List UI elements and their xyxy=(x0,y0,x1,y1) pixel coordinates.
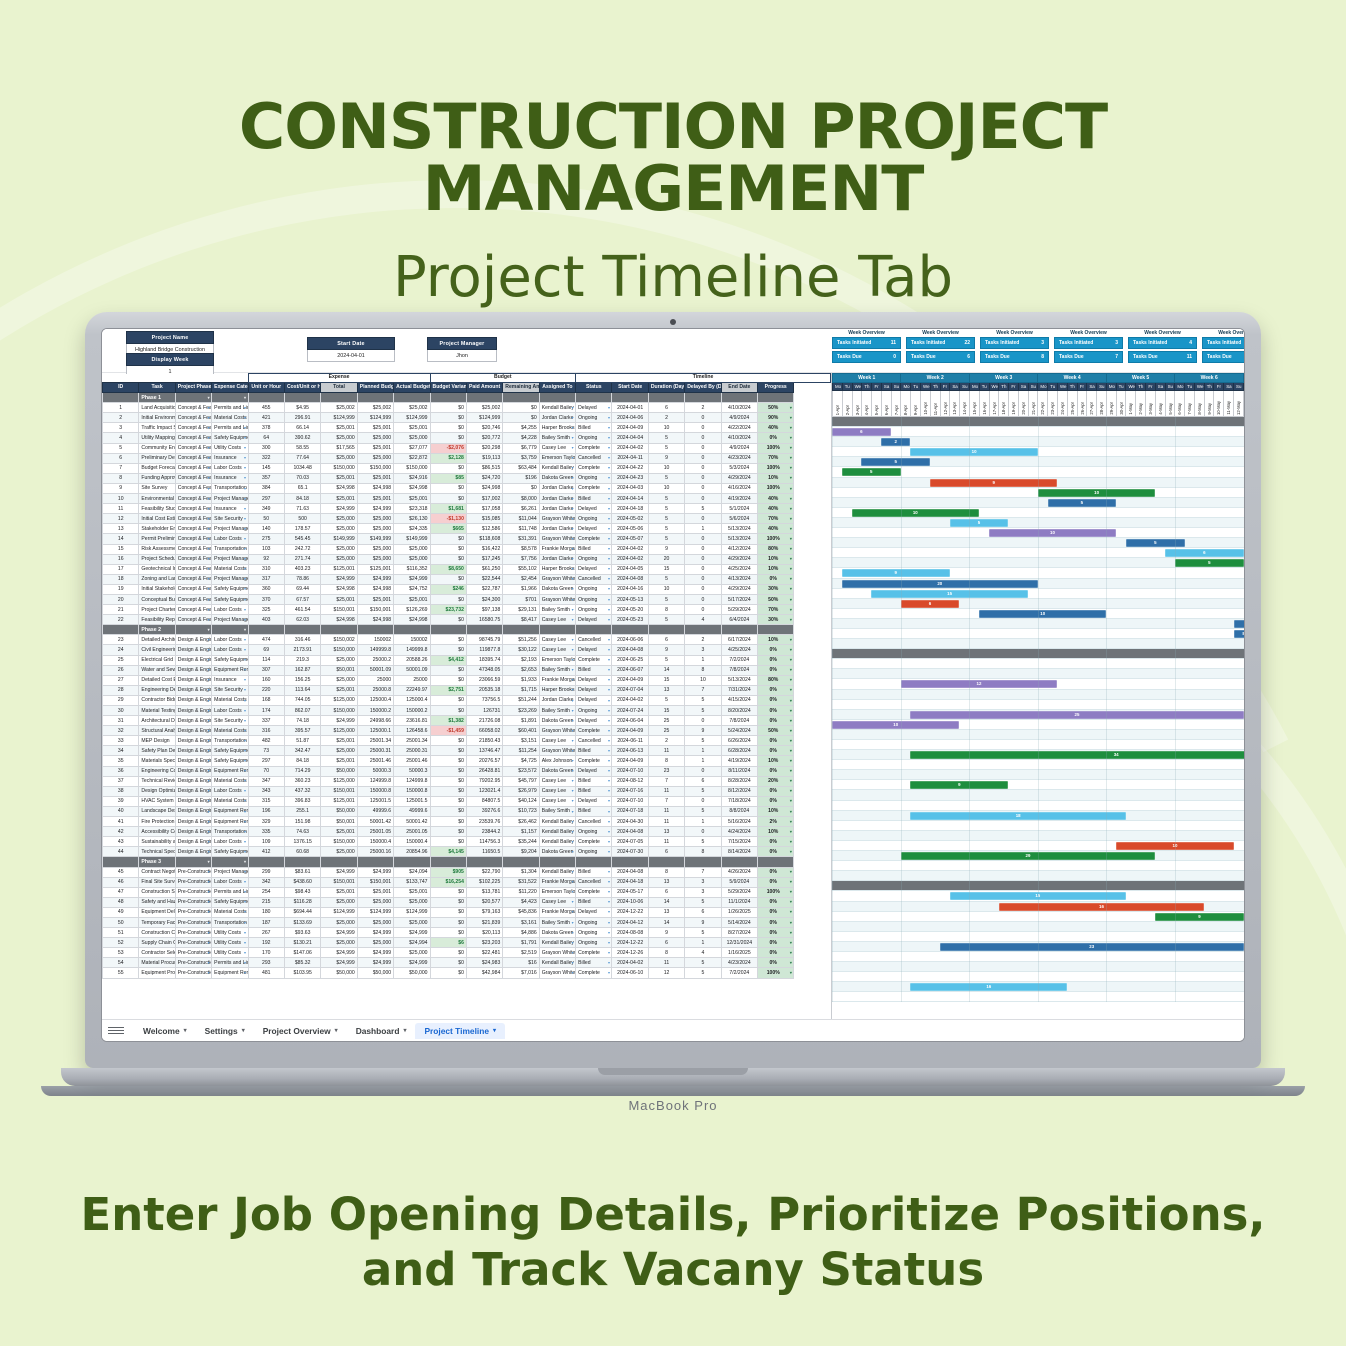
cell-assigned[interactable]: Kendall Bailey xyxy=(539,827,575,837)
cell-assigned[interactable]: Dakota Green xyxy=(539,928,575,938)
gantt-row[interactable]: 10 xyxy=(832,609,1244,619)
table-row[interactable]: 49Equipment Delivery SchedulePre-Constru… xyxy=(103,907,831,917)
cell-status[interactable]: Ongoing xyxy=(576,827,612,837)
cell-status[interactable]: Complete xyxy=(576,887,612,897)
cell-category[interactable]: Permits and Licenses xyxy=(212,423,248,433)
cell-progress[interactable]: 50% xyxy=(758,726,794,736)
cell-actual[interactable]: 23616.81 xyxy=(394,716,430,726)
cell-phase[interactable]: Pre-Construction xyxy=(175,907,211,917)
cell-progress[interactable]: 40% xyxy=(758,423,794,433)
cell-cost[interactable]: $133.69 xyxy=(284,917,320,927)
cell-actual[interactable]: 22249.97 xyxy=(394,685,430,695)
cell-duration[interactable]: 14 xyxy=(648,665,684,675)
cell-delayed[interactable]: 1 xyxy=(685,746,721,756)
cell-duration[interactable]: 13 xyxy=(648,907,684,917)
gantt-row[interactable]: 20 xyxy=(832,579,1244,589)
cell-task[interactable]: Material Testing and Approval xyxy=(139,706,175,716)
cell-actual[interactable]: $126,269 xyxy=(394,605,430,615)
cell-task[interactable]: HVAC System Design xyxy=(139,796,175,806)
cell-category[interactable]: Equipment Rental xyxy=(212,968,248,978)
cell-task[interactable]: Structural Analysis xyxy=(139,726,175,736)
category-filter[interactable] xyxy=(212,393,248,403)
cell-cost[interactable]: 70.03 xyxy=(284,473,320,483)
gantt-bar[interactable]: 25 xyxy=(910,711,1243,719)
cell-category[interactable]: Labor Costs xyxy=(212,706,248,716)
cell-task[interactable]: Accessibility Compliance Plan xyxy=(139,827,175,837)
cell-phase[interactable]: Concept & Feasibility xyxy=(175,524,211,534)
cell-category[interactable]: Material Costs xyxy=(212,564,248,574)
cell-phase[interactable]: Concept & Feasibility xyxy=(175,574,211,584)
cell-cost[interactable]: 744.05 xyxy=(284,695,320,705)
cell-actual[interactable]: $25,002 xyxy=(394,403,430,413)
cell-category[interactable]: Transportation and Logistics xyxy=(212,483,248,493)
gantt-row[interactable] xyxy=(832,962,1244,972)
cell-assigned[interactable]: Casey Lee xyxy=(539,645,575,655)
cell-actual[interactable]: $25,000 xyxy=(394,917,430,927)
cell-category[interactable]: Project Management Software xyxy=(212,574,248,584)
table-row[interactable]: 48Safety and Hazard AnalysisPre-Construc… xyxy=(103,897,831,907)
cell-delayed[interactable]: 10 xyxy=(685,675,721,685)
cell-duration[interactable]: 13 xyxy=(648,827,684,837)
cell-phase[interactable]: Design & Engineering xyxy=(175,685,211,695)
category-filter[interactable] xyxy=(212,857,248,867)
cell-planned[interactable]: 25000.8 xyxy=(357,685,393,695)
cell-start-date[interactable]: 2024-04-05 xyxy=(612,564,648,574)
cell-actual[interactable]: $25,000 xyxy=(394,897,430,907)
cell-progress[interactable]: 30% xyxy=(758,584,794,594)
cell-paid[interactable]: 79202.95 xyxy=(466,776,502,786)
cell-actual[interactable]: $25,000 xyxy=(394,433,430,443)
cell-status[interactable]: Billed xyxy=(576,958,612,968)
cell-assigned[interactable]: Grayson White xyxy=(539,574,575,584)
gantt-row[interactable]: 10 xyxy=(832,720,1244,730)
cell-duration[interactable]: 9 xyxy=(648,928,684,938)
gantt-bar[interactable]: 34 xyxy=(910,751,1244,759)
cell-units[interactable]: 64 xyxy=(248,433,284,443)
cell-status[interactable]: Billed xyxy=(576,494,612,504)
cell-category[interactable]: Project Management Software xyxy=(212,615,248,625)
cell-paid[interactable]: 18395.74 xyxy=(466,655,502,665)
gantt-bar[interactable]: 9 xyxy=(910,781,1008,789)
gantt-row[interactable]: 9 xyxy=(832,912,1244,922)
gantt-bar[interactable]: 15 xyxy=(871,590,1028,598)
cell-phase[interactable]: Design & Engineering xyxy=(175,746,211,756)
cell-category[interactable]: Transportation and Logistics xyxy=(212,827,248,837)
cell-phase[interactable]: Pre-Construction xyxy=(175,928,211,938)
gantt-row[interactable] xyxy=(832,700,1244,710)
cell-start-date[interactable]: 2024-07-10 xyxy=(612,796,648,806)
cell-start-date[interactable]: 2024-04-22 xyxy=(612,463,648,473)
cell-cost[interactable]: 77.64 xyxy=(284,453,320,463)
cell-assigned[interactable]: Bailey Smith xyxy=(539,706,575,716)
cell-start-date[interactable]: 2024-07-16 xyxy=(612,786,648,796)
cell-paid[interactable]: $20,746 xyxy=(466,423,502,433)
gantt-bar[interactable]: 5 xyxy=(1234,620,1244,628)
cell-task[interactable]: Material Procurement Plan xyxy=(139,958,175,968)
cell-cost[interactable]: 219.3 xyxy=(284,655,320,665)
cell-progress[interactable]: 80% xyxy=(758,544,794,554)
cell-actual[interactable]: 50000.3 xyxy=(394,766,430,776)
cell-delayed[interactable]: 1 xyxy=(685,938,721,948)
cell-planned[interactable]: $149,999 xyxy=(357,534,393,544)
cell-delayed[interactable]: 1 xyxy=(685,756,721,766)
cell-units[interactable]: 337 xyxy=(248,716,284,726)
cell-progress[interactable]: 100% xyxy=(758,483,794,493)
cell-progress[interactable]: 0% xyxy=(758,736,794,746)
cell-planned[interactable]: 150000.4 xyxy=(357,837,393,847)
cell-start-date[interactable]: 2024-05-02 xyxy=(612,514,648,524)
cell-status[interactable]: Ongoing xyxy=(576,433,612,443)
cell-paid[interactable]: $20,577 xyxy=(466,897,502,907)
cell-cost[interactable]: 2173.91 xyxy=(284,645,320,655)
cell-progress[interactable]: 0% xyxy=(758,706,794,716)
cell-progress[interactable]: 0% xyxy=(758,786,794,796)
cell-category[interactable]: Utility Costs xyxy=(212,443,248,453)
cell-units[interactable]: 482 xyxy=(248,736,284,746)
cell-actual[interactable]: $25,001 xyxy=(394,594,430,604)
cell-paid[interactable]: $15,085 xyxy=(466,514,502,524)
cell-actual[interactable]: $22,872 xyxy=(394,453,430,463)
cell-planned[interactable]: 50001.09 xyxy=(357,665,393,675)
cell-duration[interactable]: 6 xyxy=(648,635,684,645)
cell-category[interactable]: Transportation and Logistics xyxy=(212,736,248,746)
cell-start-date[interactable]: 2024-06-10 xyxy=(612,968,648,978)
cell-paid[interactable]: $25,002 xyxy=(466,403,502,413)
gantt-bar[interactable]: 5 xyxy=(950,519,1009,527)
cell-start-date[interactable]: 2024-04-08 xyxy=(612,645,648,655)
cell-phase[interactable]: Design & Engineering xyxy=(175,847,211,857)
cell-delayed[interactable]: 0 xyxy=(685,605,721,615)
cell-phase[interactable]: Concept & Feasibility xyxy=(175,544,211,554)
cell-delayed[interactable]: 8 xyxy=(685,665,721,675)
cell-planned[interactable]: 25000.31 xyxy=(357,746,393,756)
cell-assigned[interactable]: Bailey Smith xyxy=(539,806,575,816)
cell-duration[interactable]: 5 xyxy=(648,594,684,604)
cell-task[interactable]: Contractor Selection xyxy=(139,948,175,958)
cell-assigned[interactable]: Dakota Green xyxy=(539,584,575,594)
cell-units[interactable]: 140 xyxy=(248,524,284,534)
cell-units[interactable]: 343 xyxy=(248,786,284,796)
cell-assigned[interactable]: Jordan Clarke xyxy=(539,524,575,534)
table-row[interactable]: 27Detailed Cost EstimationDesign & Engin… xyxy=(103,675,831,685)
cell-phase[interactable]: Concept & Feasibility xyxy=(175,615,211,625)
phase-filter[interactable] xyxy=(175,857,211,867)
gantt-row[interactable] xyxy=(832,861,1244,871)
cell-task[interactable]: Environmental Impact Assessment xyxy=(139,494,175,504)
table-body[interactable]: Phase 11Land AcquisitionConcept & Feasib… xyxy=(103,393,831,978)
cell-phase[interactable]: Design & Engineering xyxy=(175,776,211,786)
cell-category[interactable]: Labor Costs xyxy=(212,605,248,615)
gantt-row[interactable] xyxy=(832,760,1244,770)
cell-phase[interactable]: Concept & Feasibility xyxy=(175,514,211,524)
cell-assigned[interactable]: Kendall Bailey xyxy=(539,403,575,413)
cell-actual[interactable]: $24,752 xyxy=(394,584,430,594)
cell-cost[interactable]: $103.95 xyxy=(284,968,320,978)
cell-actual[interactable]: 126458.6 xyxy=(394,726,430,736)
cell-delayed[interactable]: 3 xyxy=(685,877,721,887)
cell-category[interactable]: Material Costs xyxy=(212,726,248,736)
cell-cost[interactable]: 113.64 xyxy=(284,685,320,695)
gantt-row[interactable]: 9 xyxy=(832,568,1244,578)
cell-duration[interactable]: 10 xyxy=(648,483,684,493)
gantt-row[interactable] xyxy=(832,417,1244,427)
cell-progress[interactable]: 30% xyxy=(758,615,794,625)
cell-assigned[interactable]: Jordan Clarke xyxy=(539,483,575,493)
table-row[interactable]: 3Traffic Impact StudyConcept & Feasibili… xyxy=(103,423,831,433)
cell-actual[interactable]: 125000.4 xyxy=(394,695,430,705)
cell-actual[interactable]: 25001.05 xyxy=(394,827,430,837)
cell-task[interactable]: Supply Chain Coordination xyxy=(139,938,175,948)
table-row[interactable]: 42Accessibility Compliance PlanDesign & … xyxy=(103,827,831,837)
cell-cost[interactable]: 396.83 xyxy=(284,796,320,806)
cell-units[interactable]: 50 xyxy=(248,514,284,524)
gantt-row[interactable]: 15 xyxy=(832,891,1244,901)
cell-category[interactable]: Material Costs xyxy=(212,776,248,786)
cell-progress[interactable]: 0% xyxy=(758,837,794,847)
cell-paid[interactable]: 11650.5 xyxy=(466,847,502,857)
cell-paid[interactable]: $20,772 xyxy=(466,433,502,443)
tab-dashboard[interactable]: Dashboard▾ xyxy=(347,1023,416,1039)
cell-category[interactable]: Material Costs xyxy=(212,796,248,806)
cell-delayed[interactable]: 0 xyxy=(685,483,721,493)
cell-cost[interactable]: 60.68 xyxy=(284,847,320,857)
gantt-row[interactable] xyxy=(832,659,1244,669)
cell-cost[interactable]: 461.54 xyxy=(284,605,320,615)
cell-progress[interactable]: 0% xyxy=(758,746,794,756)
cell-progress[interactable]: 0% xyxy=(758,847,794,857)
cell-category[interactable]: Labor Costs xyxy=(212,534,248,544)
cell-units[interactable]: 329 xyxy=(248,817,284,827)
category-filter[interactable] xyxy=(212,625,248,635)
cell-units[interactable]: 192 xyxy=(248,938,284,948)
chevron-down-icon[interactable]: ▾ xyxy=(335,1027,338,1034)
gantt-bar[interactable]: 12 xyxy=(901,680,1058,688)
cell-cost[interactable]: 342.47 xyxy=(284,746,320,756)
cell-units[interactable]: 315 xyxy=(248,796,284,806)
cell-planned[interactable]: $25,000 xyxy=(357,453,393,463)
cell-duration[interactable]: 8 xyxy=(648,605,684,615)
cell-cost[interactable]: $147.06 xyxy=(284,948,320,958)
cell-assigned[interactable]: Harper Brooks xyxy=(539,564,575,574)
cell-status[interactable]: Complete xyxy=(576,948,612,958)
cell-planned[interactable]: $24,998 xyxy=(357,615,393,625)
gantt-row[interactable]: 8 xyxy=(832,629,1244,639)
table-row[interactable]: 14Permit Preliminary CheckConcept & Feas… xyxy=(103,534,831,544)
cell-task[interactable]: Risk Assessment xyxy=(139,544,175,554)
cell-paid[interactable]: $16,422 xyxy=(466,544,502,554)
cell-progress[interactable]: 90% xyxy=(758,413,794,423)
cell-task[interactable]: Initial Environmental Study xyxy=(139,413,175,423)
cell-assigned[interactable]: Kendall Bailey xyxy=(539,837,575,847)
tab-list[interactable]: Welcome▾Settings▾Project Overview▾Dashbo… xyxy=(134,1023,505,1039)
cell-duration[interactable]: 20 xyxy=(648,554,684,564)
cell-delayed[interactable]: 2 xyxy=(685,635,721,645)
cell-paid[interactable]: 84807.5 xyxy=(466,796,502,806)
gantt-bar[interactable]: 20 xyxy=(842,580,1038,588)
cell-delayed[interactable]: 0 xyxy=(685,443,721,453)
cell-cost[interactable]: $694.44 xyxy=(284,907,320,917)
cell-delayed[interactable]: 0 xyxy=(685,473,721,483)
cell-assigned[interactable]: Kendall Bailey xyxy=(539,463,575,473)
gantt-row[interactable] xyxy=(832,770,1244,780)
cell-duration[interactable]: 14 xyxy=(648,897,684,907)
cell-assigned[interactable]: Casey Lee xyxy=(539,776,575,786)
cell-paid[interactable]: 20276.57 xyxy=(466,756,502,766)
cell-paid[interactable]: $24,983 xyxy=(466,958,502,968)
gantt-row[interactable]: 5 xyxy=(832,619,1244,629)
cell-task[interactable]: Project Charter Development xyxy=(139,605,175,615)
cell-delayed[interactable]: 1 xyxy=(685,817,721,827)
table-row[interactable]: 51Construction Crew OrientationPre-Const… xyxy=(103,928,831,938)
cell-paid[interactable]: $22,790 xyxy=(466,867,502,877)
cell-paid[interactable]: 98745.79 xyxy=(466,635,502,645)
cell-phase[interactable]: Design & Engineering xyxy=(175,706,211,716)
cell-category[interactable]: Labor Costs xyxy=(212,463,248,473)
cell-cost[interactable]: 62.03 xyxy=(284,615,320,625)
cell-planned[interactable]: 150000.2 xyxy=(357,706,393,716)
cell-start-date[interactable]: 2024-04-08 xyxy=(612,574,648,584)
cell-task[interactable]: Zoning and Land Use Study xyxy=(139,574,175,584)
cell-assigned[interactable]: Dakota Green xyxy=(539,716,575,726)
cell-assigned[interactable]: Kendall Bailey xyxy=(539,817,575,827)
cell-duration[interactable]: 11 xyxy=(648,806,684,816)
cell-actual[interactable]: 20854.96 xyxy=(394,847,430,857)
cell-paid[interactable]: 114756.3 xyxy=(466,837,502,847)
col-header-duration-days[interactable]: Duration (Days) xyxy=(648,383,684,393)
data-table-pane[interactable]: ExpenseBudgetTimeline IDTaskProject Phas… xyxy=(102,373,832,1019)
cell-assigned[interactable]: Emerson Taylor xyxy=(539,887,575,897)
gantt-row[interactable]: 16 xyxy=(832,902,1244,912)
cell-task[interactable]: Fire Protection System Design xyxy=(139,817,175,827)
gantt-row[interactable]: 23 xyxy=(832,942,1244,952)
cell-category[interactable]: Utility Costs xyxy=(212,938,248,948)
gantt-row[interactable]: 15 xyxy=(832,589,1244,599)
gantt-row[interactable]: 10 xyxy=(832,488,1244,498)
gantt-bar[interactable]: 9 xyxy=(930,479,1057,487)
gantt-bar[interactable]: 15 xyxy=(950,892,1126,900)
gantt-row[interactable]: 5 xyxy=(832,467,1244,477)
cell-delayed[interactable]: 1 xyxy=(685,524,721,534)
cell-start-date[interactable]: 2024-12-26 xyxy=(612,948,648,958)
gantt-row[interactable]: 9 xyxy=(832,780,1244,790)
cell-progress[interactable]: 50% xyxy=(758,594,794,604)
cell-category[interactable]: Safety Equipment xyxy=(212,746,248,756)
cell-start-date[interactable]: 2024-07-05 xyxy=(612,837,648,847)
cell-status[interactable]: Complete xyxy=(576,756,612,766)
cell-actual[interactable]: $25,001 xyxy=(394,887,430,897)
cell-phase[interactable]: Design & Engineering xyxy=(175,817,211,827)
col-header-cost-unit-or-hours[interactable]: Cost/Unit or Hours xyxy=(284,383,320,393)
cell-category[interactable]: Permits and Licenses xyxy=(212,403,248,413)
cell-duration[interactable]: 25 xyxy=(648,726,684,736)
cell-start-date[interactable]: 2024-10-06 xyxy=(612,897,648,907)
cell-duration[interactable]: 14 xyxy=(648,917,684,927)
table-row[interactable]: 46Final Site Survey and MarkingPre-Const… xyxy=(103,877,831,887)
cell-delayed[interactable]: 5 xyxy=(685,806,721,816)
cell-assigned[interactable]: Jordan Clarke xyxy=(539,695,575,705)
gantt-row[interactable] xyxy=(832,639,1244,649)
cell-status[interactable]: Cancelled xyxy=(576,453,612,463)
cell-cost[interactable]: 271.74 xyxy=(284,554,320,564)
table-row[interactable]: 15Risk AssessmentConcept & FeasibilityTr… xyxy=(103,544,831,554)
start-date-box[interactable]: Start Date 2024-04-01 xyxy=(307,337,395,362)
cell-planned[interactable]: $124,999 xyxy=(357,413,393,423)
gantt-row[interactable]: 16 xyxy=(832,982,1244,992)
cell-units[interactable]: 220 xyxy=(248,685,284,695)
cell-progress[interactable]: 0% xyxy=(758,877,794,887)
cell-status[interactable]: Delayed xyxy=(576,403,612,413)
cell-planned[interactable]: 125000.1 xyxy=(357,726,393,736)
cell-delayed[interactable]: 9 xyxy=(685,726,721,736)
col-header-expense-category[interactable]: Expense Category xyxy=(212,383,248,393)
cell-units[interactable]: 293 xyxy=(248,958,284,968)
cell-actual[interactable]: $24,994 xyxy=(394,938,430,948)
cell-units[interactable]: 168 xyxy=(248,695,284,705)
cell-planned[interactable]: 125001.5 xyxy=(357,796,393,806)
cell-duration[interactable]: 5 xyxy=(648,615,684,625)
cell-status[interactable]: Delayed xyxy=(576,796,612,806)
cell-start-date[interactable]: 2024-04-04 xyxy=(612,433,648,443)
cell-actual[interactable]: $24,999 xyxy=(394,958,430,968)
cell-delayed[interactable]: 5 xyxy=(685,958,721,968)
gantt-row[interactable]: 10 xyxy=(832,447,1244,457)
cell-start-date[interactable]: 2024-04-08 xyxy=(612,867,648,877)
cell-category[interactable]: Material Costs xyxy=(212,695,248,705)
cell-actual[interactable]: 20588.26 xyxy=(394,655,430,665)
cell-start-date[interactable]: 2024-08-08 xyxy=(612,928,648,938)
cell-units[interactable]: 187 xyxy=(248,917,284,927)
cell-assigned[interactable]: Bailey Smith xyxy=(539,917,575,927)
gantt-row[interactable]: 5 xyxy=(832,457,1244,467)
table-row[interactable]: 47Construction Schedule FinalizationPre-… xyxy=(103,887,831,897)
cell-planned[interactable]: $125,001 xyxy=(357,564,393,574)
cell-phase[interactable]: Design & Engineering xyxy=(175,796,211,806)
table-row[interactable]: 6Preliminary Design SketchesConcept & Fe… xyxy=(103,453,831,463)
cell-progress[interactable]: 0% xyxy=(758,948,794,958)
cell-delayed[interactable]: 5 xyxy=(685,837,721,847)
cell-assigned[interactable]: Bailey Smith xyxy=(539,665,575,675)
cell-delayed[interactable]: 0 xyxy=(685,453,721,463)
cell-delayed[interactable]: 0 xyxy=(685,594,721,604)
cell-cost[interactable]: 69.44 xyxy=(284,584,320,594)
cell-delayed[interactable]: 0 xyxy=(685,554,721,564)
cell-progress[interactable]: 0% xyxy=(758,574,794,584)
cell-cost[interactable]: $93.63 xyxy=(284,928,320,938)
cell-cost[interactable]: 242.72 xyxy=(284,544,320,554)
cell-paid[interactable]: $23,203 xyxy=(466,938,502,948)
cell-units[interactable]: 360 xyxy=(248,584,284,594)
cell-units[interactable]: 307 xyxy=(248,665,284,675)
table-row[interactable]: 30Material Testing and ApprovalDesign & … xyxy=(103,706,831,716)
cell-units[interactable]: 297 xyxy=(248,756,284,766)
cell-planned[interactable]: 25001.46 xyxy=(357,756,393,766)
cell-start-date[interactable]: 2024-05-13 xyxy=(612,594,648,604)
cell-phase[interactable]: Pre-Construction xyxy=(175,938,211,948)
cell-task[interactable]: Site Survey xyxy=(139,483,175,493)
cell-task[interactable]: Safety Plan Development xyxy=(139,746,175,756)
cell-progress[interactable]: 20% xyxy=(758,776,794,786)
cell-progress[interactable]: 10% xyxy=(758,635,794,645)
cell-start-date[interactable]: 2024-05-20 xyxy=(612,605,648,615)
cell-planned[interactable]: $24,999 xyxy=(357,867,393,877)
cell-assigned[interactable]: Frankie Morgan xyxy=(539,907,575,917)
cell-planned[interactable]: $24,998 xyxy=(357,584,393,594)
chevron-down-icon[interactable]: ▾ xyxy=(493,1027,496,1034)
cell-category[interactable]: Insurance xyxy=(212,453,248,463)
cell-planned[interactable]: $24,999 xyxy=(357,928,393,938)
cell-status[interactable]: Billed xyxy=(576,746,612,756)
cell-duration[interactable]: 25 xyxy=(648,716,684,726)
